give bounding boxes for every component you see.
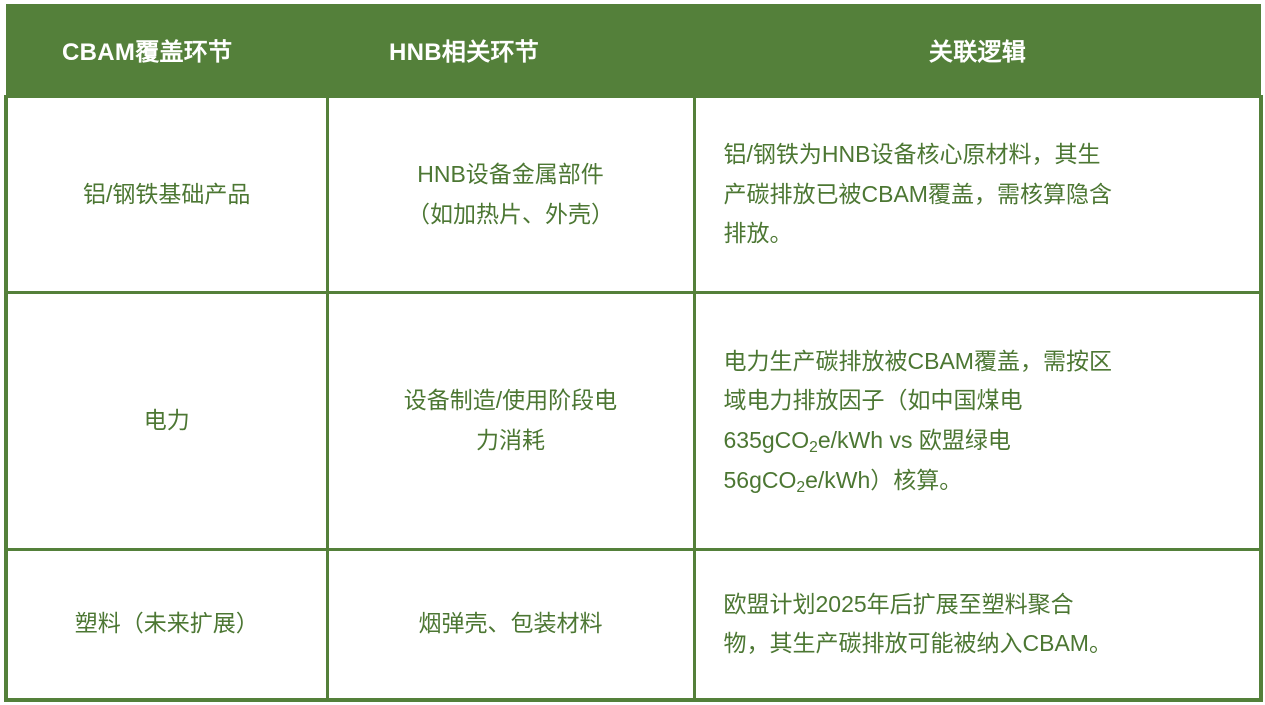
table-header-row: CBAM覆盖环节 HNB相关环节 关联逻辑 [6, 4, 1261, 97]
cell-linkage-logic-2: 电力生产碳排放被CBAM覆盖，需按区 域电力排放因子（如中国煤电 635gCO2… [694, 293, 1261, 550]
cell-line: 欧盟计划2025年后扩展至塑料聚合 [724, 585, 1230, 625]
emission-value-eu-post: e/kWh）核算。 [805, 467, 962, 493]
emission-value-eu-pre: 56gCO [724, 467, 797, 493]
cell-line: 烟弹壳、包装材料 [343, 604, 679, 644]
cell-line: 铝/钢铁为HNB设备核心原材料，其生 [724, 135, 1230, 175]
table-body: 铝/钢铁基础产品 HNB设备金属部件 （如加热片、外壳） 铝/钢铁为HNB设备核… [6, 97, 1261, 700]
cell-line: （如加热片、外壳） [343, 195, 679, 235]
cell-cbam-scope-3: 塑料（未来扩展） [6, 550, 327, 700]
cell-hnb-stage-2: 设备制造/使用阶段电 力消耗 [327, 293, 694, 550]
cell-cbam-scope-1: 铝/钢铁基础产品 [6, 97, 327, 293]
cell-cbam-scope-2: 电力 [6, 293, 327, 550]
cell-linkage-logic-1: 铝/钢铁为HNB设备核心原材料，其生 产碳排放已被CBAM覆盖，需核算隐含 排放… [694, 97, 1261, 293]
cell-linkage-logic-3: 欧盟计划2025年后扩展至塑料聚合 物，其生产碳排放可能被纳入CBAM。 [694, 550, 1261, 700]
column-header-hnb-stage: HNB相关环节 [327, 4, 694, 97]
emission-value-china-post: e/kWh vs 欧盟绿电 [818, 427, 1011, 453]
cbam-hnb-table-container: CBAM覆盖环节 HNB相关环节 关联逻辑 铝/钢铁基础产品 HNB设备金属部件… [0, 0, 1265, 705]
subscript-2: 2 [796, 479, 805, 496]
emission-value-china-pre: 635gCO [724, 427, 810, 453]
cbam-hnb-mapping-table: CBAM覆盖环节 HNB相关环节 关联逻辑 铝/钢铁基础产品 HNB设备金属部件… [4, 4, 1263, 702]
cell-line-emission-factor-china: 635gCO2e/kWh vs 欧盟绿电 [724, 421, 1230, 461]
table-row: 电力 设备制造/使用阶段电 力消耗 电力生产碳排放被CBAM覆盖，需按区 域电力… [6, 293, 1261, 550]
cell-line: 力消耗 [343, 421, 679, 461]
column-header-linkage-logic: 关联逻辑 [694, 4, 1261, 97]
subscript-2: 2 [809, 439, 818, 456]
cell-line: 排放。 [724, 214, 1230, 254]
cell-line: 物，其生产碳排放可能被纳入CBAM。 [724, 624, 1230, 664]
table-row: 塑料（未来扩展） 烟弹壳、包装材料 欧盟计划2025年后扩展至塑料聚合 物，其生… [6, 550, 1261, 700]
cell-line: 电力生产碳排放被CBAM覆盖，需按区 [724, 342, 1230, 382]
cell-hnb-stage-1: HNB设备金属部件 （如加热片、外壳） [327, 97, 694, 293]
cell-line: 产碳排放已被CBAM覆盖，需核算隐含 [724, 175, 1230, 215]
cell-line: HNB设备金属部件 [343, 155, 679, 195]
table-header: CBAM覆盖环节 HNB相关环节 关联逻辑 [6, 4, 1261, 97]
column-header-cbam-scope: CBAM覆盖环节 [6, 4, 327, 97]
cell-line-emission-factor-eu: 56gCO2e/kWh）核算。 [724, 461, 1230, 501]
cell-line: 域电力排放因子（如中国煤电 [724, 381, 1230, 421]
cell-hnb-stage-3: 烟弹壳、包装材料 [327, 550, 694, 700]
table-row: 铝/钢铁基础产品 HNB设备金属部件 （如加热片、外壳） 铝/钢铁为HNB设备核… [6, 97, 1261, 293]
cell-line: 设备制造/使用阶段电 [343, 381, 679, 421]
